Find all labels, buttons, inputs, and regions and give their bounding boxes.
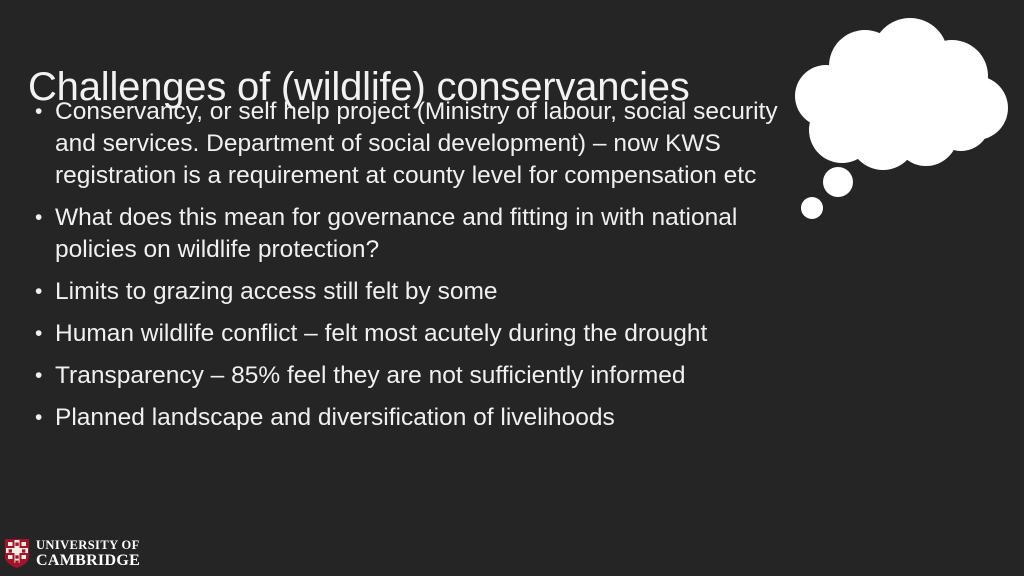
- logo-line-university-of: UNIVERSITY OF: [36, 538, 140, 552]
- list-item-text: Planned landscape and diversification of…: [55, 402, 790, 434]
- bullet-marker-icon: •: [35, 96, 42, 128]
- cambridge-logo: UNIVERSITY OF CAMBRIDGE: [5, 538, 140, 569]
- list-item-text: Limits to grazing access still felt by s…: [55, 276, 790, 308]
- logo-wordmark: UNIVERSITY OF CAMBRIDGE: [36, 538, 140, 569]
- bullet-list: • Conservancy, or self help project (Min…: [30, 96, 790, 434]
- logo-line-cambridge: CAMBRIDGE: [36, 552, 140, 569]
- bullet-marker-icon: •: [35, 202, 42, 234]
- list-item-text: Transparency – 85% feel they are not suf…: [55, 360, 790, 392]
- bullet-marker-icon: •: [35, 276, 42, 308]
- slide-canvas: Challenges of (wildlife) conservancies •…: [0, 0, 1024, 576]
- list-item: • Limits to grazing access still felt by…: [30, 276, 790, 308]
- list-item-text: Human wildlife conflict – felt most acut…: [55, 318, 790, 350]
- list-item: • Conservancy, or self help project (Min…: [30, 96, 790, 192]
- thought-bubble-icon: [780, 18, 1024, 228]
- bullet-marker-icon: •: [35, 318, 42, 350]
- list-item: • Transparency – 85% feel they are not s…: [30, 360, 790, 392]
- list-item: • Human wildlife conflict – felt most ac…: [30, 318, 790, 350]
- bullet-marker-icon: •: [35, 360, 42, 392]
- list-item: • Planned landscape and diversification …: [30, 402, 790, 434]
- list-item: • What does this mean for governance and…: [30, 202, 790, 266]
- list-item-text: Conservancy, or self help project (Minis…: [55, 96, 790, 192]
- bullet-marker-icon: •: [35, 402, 42, 434]
- cambridge-crest-icon: [5, 539, 29, 568]
- list-item-text: What does this mean for governance and f…: [55, 202, 790, 266]
